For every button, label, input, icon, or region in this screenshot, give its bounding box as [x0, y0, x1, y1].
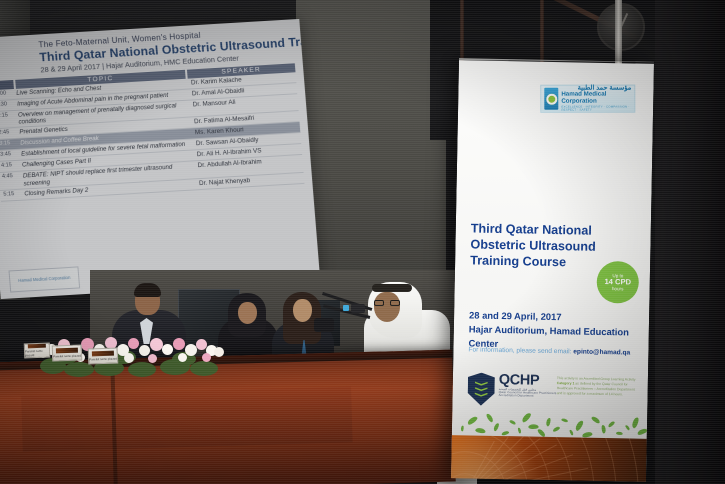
- cell-time: 1:30: [0, 100, 16, 111]
- leaf-icon: [461, 425, 464, 431]
- slide-table-body: 1:00Live Scanning: Echo and ChestDr. Kar…: [0, 72, 304, 201]
- flower: [148, 354, 157, 363]
- cell-time: 2:15: [0, 111, 17, 129]
- leaf-icon: [569, 429, 574, 436]
- room-wall-right: [655, 0, 725, 484]
- qchp-shield-icon: [467, 372, 495, 406]
- chevron-icon: [475, 382, 488, 386]
- hmc-logo-strip: EXCELLENCE · INTEGRITY · COMPASSION · RE…: [561, 106, 631, 112]
- flower: [202, 353, 211, 362]
- leaf-icon: [509, 419, 517, 425]
- conference-room-photo: The Feto-Maternal Unit, Women's Hospital…: [0, 0, 725, 484]
- accreditation-category: Category 1: [557, 381, 575, 385]
- leaf-icon: [607, 420, 615, 428]
- leaf-icon: [625, 424, 631, 430]
- cell-time: 2:45: [0, 128, 18, 139]
- leaf-icon: [601, 425, 606, 434]
- leaf-icon: [475, 427, 486, 434]
- chevron-icon: [475, 387, 488, 391]
- placard-label: Panelist name placard: [89, 357, 117, 362]
- microphone-indicator: [343, 305, 349, 311]
- microphone-head: [351, 304, 365, 313]
- cell-time: 4:45: [0, 172, 22, 190]
- flower: [124, 353, 134, 363]
- qchp-wordmark: QCHP مجلس قطر للتخصصات الصحية Qatar Coun…: [499, 373, 557, 398]
- foliage: [190, 361, 218, 376]
- leaf-icon: [616, 432, 623, 436]
- leaf-icon: [561, 418, 568, 423]
- face: [293, 299, 312, 322]
- agal-band: [372, 284, 412, 292]
- hmc-emblem-icon: [544, 88, 558, 110]
- leaf-icon: [521, 412, 533, 424]
- name-placard: Panelist name placard: [52, 344, 83, 361]
- placard-label: Panelist name placard: [53, 354, 81, 359]
- cpd-hours-badge: Up to 14 CPD hours: [596, 261, 639, 304]
- banner-face: مؤسسة حمد الطبية Hamad Medical Corporati…: [451, 60, 654, 482]
- banner-contact-prefix: For information, please send email:: [468, 346, 571, 355]
- mesh-arc: [451, 435, 647, 482]
- face: [238, 302, 257, 324]
- eyeglasses-icon: [374, 300, 400, 306]
- accreditation-note: This activity is an Accredited Group Lea…: [557, 376, 641, 397]
- banner-bottom-graphic: [451, 435, 647, 482]
- leaf-icon: [631, 417, 640, 429]
- projection-screen: The Feto-Maternal Unit, Women's Hospital…: [0, 19, 320, 299]
- foliage: [128, 362, 156, 377]
- leaf-icon: [574, 420, 585, 432]
- leaf-icon: [546, 418, 552, 427]
- slide-content: The Feto-Maternal Unit, Women's Hospital…: [0, 19, 320, 299]
- flower: [178, 353, 187, 362]
- face: [374, 292, 400, 322]
- cpd-badge-line3: hours: [612, 286, 624, 291]
- cell-time: 4:15: [0, 161, 21, 172]
- leaf-icon: [485, 413, 494, 423]
- dais-front-panel: [21, 386, 352, 451]
- leaf-icon: [590, 415, 600, 424]
- leaf-icon: [517, 427, 521, 433]
- flower: [214, 347, 224, 357]
- hamad-medical-corporation-logo: مؤسسة حمد الطبية Hamad Medical Corporati…: [540, 85, 635, 113]
- placard-bar: [92, 351, 114, 357]
- flower: [128, 338, 139, 349]
- cpd-badge-line2: 14 CPD: [604, 278, 631, 287]
- slide-footer-logo-text: Hamad Medical Corporation: [18, 275, 70, 284]
- cell-time: 3:45: [0, 150, 20, 161]
- room-wall-grey: [296, 0, 446, 300]
- placard-bar: [27, 344, 46, 349]
- placard-label: Panelist name placard: [25, 349, 49, 358]
- hair: [134, 283, 161, 297]
- cell-time: 3:15: [0, 139, 19, 150]
- leaf-icon: [552, 426, 560, 433]
- placard-bar: [56, 348, 78, 354]
- banner-contact-email: epinto@hamad.qa: [573, 348, 630, 356]
- leaf-icon: [637, 428, 648, 437]
- cell-time: 1:00: [0, 89, 15, 100]
- leaf-icon: [493, 422, 500, 432]
- cell-time: 5:15: [0, 189, 23, 200]
- name-placard: Panelist name placard: [24, 343, 51, 359]
- leaf-icon: [466, 415, 478, 426]
- rollup-banner: مؤسسة حمد الطبية Hamad Medical Corporati…: [451, 58, 654, 482]
- name-placard: Panelist name placard: [88, 347, 119, 364]
- flower: [162, 344, 173, 355]
- slide-footer-logo: Hamad Medical Corporation: [8, 266, 80, 292]
- hmc-logo-text: مؤسسة حمد الطبية Hamad Medical Corporati…: [561, 85, 631, 112]
- mesh-pattern: [451, 435, 647, 482]
- microphone-base: [314, 318, 334, 332]
- hmc-logo-english: Hamad Medical Corporation: [561, 92, 631, 105]
- chevron-icon: [475, 393, 488, 397]
- qchp-logo: QCHP مجلس قطر للتخصصات الصحية Qatar Coun…: [467, 372, 556, 407]
- flower: [173, 338, 185, 350]
